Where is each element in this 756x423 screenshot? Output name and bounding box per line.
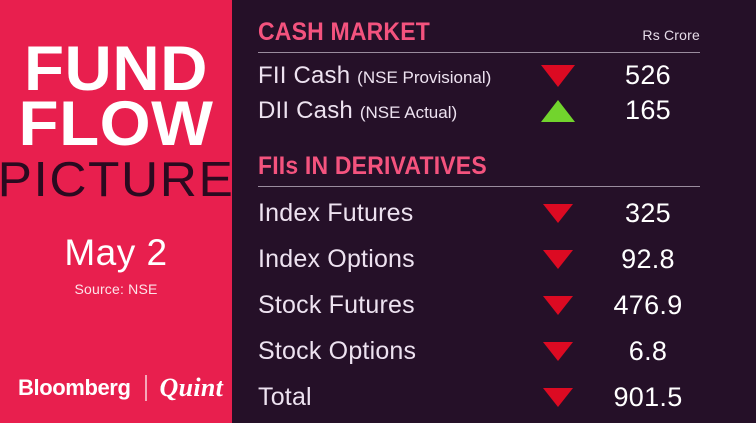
source-label: Source: NSE	[0, 281, 232, 297]
publisher-logo: Bloomberg Quint	[18, 375, 223, 401]
publisher-divider	[145, 375, 147, 401]
fund-flow-picture-graphic: FUND FLOW PICTURE May 2 Source: NSE Bloo…	[0, 0, 756, 423]
row-label-main: FII Cash	[258, 62, 350, 89]
publisher-quint-label: Quint	[160, 373, 224, 403]
row-value-total: 901.5	[596, 382, 700, 413]
arrow-cell	[520, 388, 596, 407]
publisher-bloomberg-label: Bloomberg	[18, 375, 131, 401]
table-row: Stock Options 6.8	[258, 328, 700, 374]
title-logo: FUND FLOW PICTURE	[0, 42, 232, 206]
row-label-sub: (NSE Provisional)	[357, 68, 491, 87]
section-header-fiis-in-derivatives: FIIs IN DERIVATIVES	[258, 152, 700, 187]
row-label-sub: (NSE Actual)	[360, 103, 457, 122]
title-word-flow: FLOW	[0, 97, 232, 152]
arrow-cell	[520, 65, 596, 87]
row-label-dii-cash: DII Cash (NSE Actual)	[258, 97, 520, 125]
triangle-down-icon	[543, 250, 573, 269]
row-value-dii-cash: 165	[596, 95, 700, 126]
date-block: May 2 Source: NSE	[0, 234, 232, 297]
table-row: Total 901.5	[258, 374, 700, 420]
arrow-cell	[520, 100, 596, 122]
row-label-main: DII Cash	[258, 97, 353, 124]
table-row: Index Futures 325	[258, 190, 700, 236]
row-value-stock-options: 6.8	[596, 336, 700, 367]
triangle-down-icon	[543, 342, 573, 361]
row-label-total: Total	[258, 383, 520, 412]
table-row: FII Cash (NSE Provisional) 526	[258, 58, 700, 93]
triangle-down-icon	[543, 204, 573, 223]
row-label-index-futures: Index Futures	[258, 199, 520, 228]
triangle-down-icon	[541, 65, 575, 87]
section-title-fiis-in-derivatives: FIIs IN DERIVATIVES	[258, 152, 487, 181]
unit-label: Rs Crore	[642, 27, 700, 43]
brand-panel: FUND FLOW PICTURE May 2 Source: NSE Bloo…	[0, 0, 232, 423]
section-title-cash-market: CASH MARKET	[258, 18, 430, 47]
arrow-cell	[520, 204, 596, 223]
data-panel: CASH MARKET Rs Crore FII Cash (NSE Provi…	[232, 0, 756, 423]
triangle-up-icon	[541, 100, 575, 122]
triangle-down-icon	[543, 296, 573, 315]
row-label-fii-cash: FII Cash (NSE Provisional)	[258, 62, 520, 90]
row-value-index-options: 92.8	[596, 244, 700, 275]
table-row: Index Options 92.8	[258, 236, 700, 282]
row-label-index-options: Index Options	[258, 245, 520, 274]
triangle-down-icon	[543, 388, 573, 407]
row-value-fii-cash: 526	[596, 60, 700, 91]
row-label-stock-options: Stock Options	[258, 337, 520, 366]
table-row: Stock Futures 476.9	[258, 282, 700, 328]
arrow-cell	[520, 342, 596, 361]
row-value-stock-futures: 476.9	[596, 290, 700, 321]
table-row: DII Cash (NSE Actual) 165	[258, 93, 700, 128]
arrow-cell	[520, 296, 596, 315]
row-label-stock-futures: Stock Futures	[258, 291, 520, 320]
date-label: May 2	[0, 234, 232, 273]
title-word-picture: PICTURE	[0, 155, 232, 206]
arrow-cell	[520, 250, 596, 269]
row-value-index-futures: 325	[596, 198, 700, 229]
derivatives-rows: Index Futures 325 Index Options 92.8 Sto…	[258, 190, 700, 420]
section-header-cash-market: CASH MARKET Rs Crore	[258, 18, 700, 53]
cash-market-rows: FII Cash (NSE Provisional) 526 DII Cash …	[258, 58, 700, 128]
